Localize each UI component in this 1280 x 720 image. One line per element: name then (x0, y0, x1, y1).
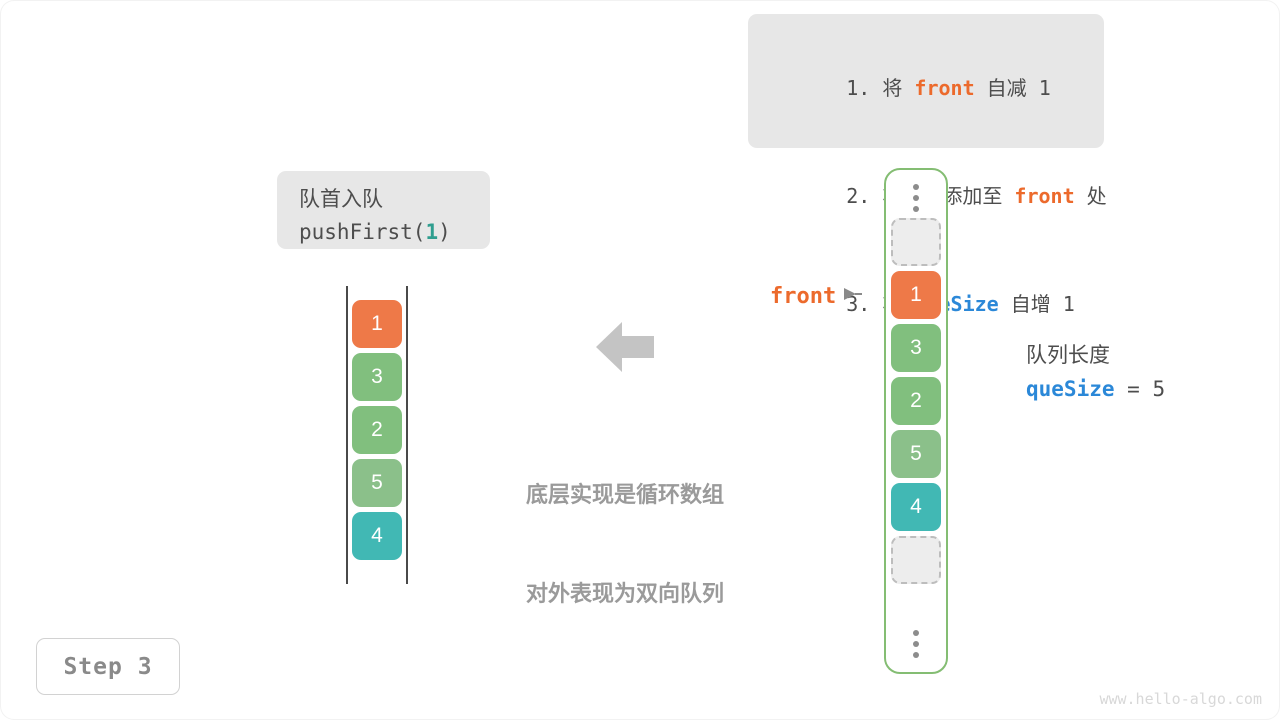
instruction-index-1: 1. (846, 76, 882, 100)
deque-cell: 4 (352, 512, 402, 560)
watermark: www.hello-algo.com (1099, 690, 1262, 708)
diagram-canvas: 1. 将 front 自减 1 2. 将元素添加至 front 处 3. 将 q… (0, 0, 1280, 720)
quesize-equals: = (1115, 377, 1153, 401)
deque-cell: 5 (352, 459, 402, 507)
instruction-index-2: 2. (846, 184, 882, 208)
array-slot-filled: 2 (891, 377, 941, 425)
instruction-token-front-2: front (1014, 184, 1074, 208)
center-caption-line-1: 底层实现是循环数组 (480, 478, 770, 511)
array-slot-empty (891, 536, 941, 584)
center-caption-line-2: 对外表现为双向队列 (480, 577, 770, 610)
deque-cell: 2 (352, 406, 402, 454)
quesize-var-name: queSize (1026, 377, 1115, 401)
front-pointer: front (770, 284, 862, 309)
instruction-box: 1. 将 front 自减 1 2. 将元素添加至 front 处 3. 将 q… (748, 14, 1104, 148)
operation-code-prefix: pushFirst( (299, 220, 425, 244)
deque-cell: 3 (352, 353, 402, 401)
deque-column: 1 3 2 5 4 (346, 286, 408, 584)
quesize-title: 队列长度 (1026, 340, 1256, 372)
deque-rail-left (346, 286, 348, 584)
array-slot-filled: 3 (891, 324, 941, 372)
deque-cell: 1 (352, 300, 402, 348)
array-slot-filled: 5 (891, 430, 941, 478)
front-pointer-arrow-icon (844, 287, 862, 306)
deque-rail-right (406, 286, 408, 584)
operation-code: pushFirst(1) (299, 215, 468, 249)
instruction-text-1a: 将 (882, 76, 914, 100)
instruction-text-1b: 自减 1 (975, 76, 1051, 100)
instruction-token-front-1: front (914, 76, 974, 100)
quesize-expression: queSize = 5 (1026, 372, 1256, 406)
operation-code-suffix: ) (438, 220, 451, 244)
quesize-annotation: 队列长度 queSize = 5 (1026, 340, 1256, 406)
front-pointer-label: front (770, 284, 836, 309)
operation-label-box: 队首入队 pushFirst(1) (277, 171, 490, 249)
center-caption: 底层实现是循环数组 对外表现为双向队列 (480, 412, 770, 676)
instruction-line-1: 1. 将 front 自减 1 (774, 34, 1078, 142)
step-badge-label: Step 3 (63, 654, 152, 680)
instruction-text-2b: 处 (1075, 184, 1107, 208)
vertical-ellipsis-icon-top (913, 184, 919, 212)
array-slot-empty (891, 218, 941, 266)
operation-code-arg: 1 (425, 220, 438, 244)
step-badge: Step 3 (36, 638, 180, 695)
array-slot-filled: 1 (891, 271, 941, 319)
deque-cell-list: 1 3 2 5 4 (352, 300, 402, 560)
array-slot-filled: 4 (891, 483, 941, 531)
vertical-ellipsis-icon-bottom (913, 630, 919, 658)
operation-title: 队首入队 (299, 185, 468, 215)
left-arrow-icon (596, 322, 654, 372)
circular-array-container: 1 3 2 5 4 (884, 168, 948, 674)
instruction-text-3b: 自增 1 (999, 292, 1075, 316)
quesize-value: 5 (1152, 377, 1165, 401)
array-cell-list: 1 3 2 5 4 (891, 218, 941, 584)
